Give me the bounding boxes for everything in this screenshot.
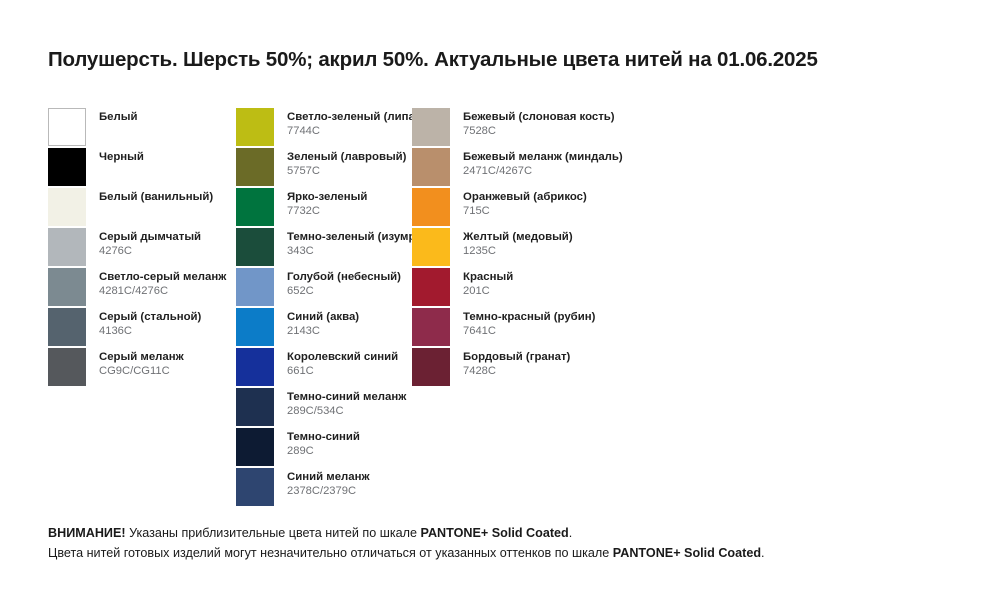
swatch-name: Темно-синий: [287, 431, 360, 444]
swatch-pantone-code: 2471C/4267C: [463, 165, 623, 178]
swatch-text: Черный: [99, 148, 144, 164]
swatch-text: Зеленый (лавровый)5757C: [287, 148, 406, 179]
swatch-text: Ярко-зеленый7732C: [287, 188, 367, 219]
swatch-pantone-code: CG9C/CG11C: [99, 365, 184, 378]
swatch-text: Белый (ванильный): [99, 188, 213, 204]
color-swatch: [412, 308, 450, 346]
color-swatch: [236, 308, 274, 346]
color-swatch: [412, 108, 450, 146]
swatch-pantone-code: 7528C: [463, 125, 615, 138]
swatch-name: Бежевый (слоновая кость): [463, 111, 615, 124]
pantone-brand-2: PANTONE+ Solid Coated: [613, 546, 761, 560]
swatch-text: Серый меланжCG9C/CG11C: [99, 348, 184, 379]
color-swatch: [412, 228, 450, 266]
swatch-name: Белый: [99, 111, 138, 124]
swatch-text: Темно-красный (рубин)7641C: [463, 308, 595, 339]
swatch-row: Зеленый (лавровый)5757C: [236, 148, 412, 188]
color-swatch: [412, 188, 450, 226]
swatch-row: Бежевый (слоновая кость)7528C: [412, 108, 712, 148]
swatch-text: Серый (стальной)4136C: [99, 308, 201, 339]
swatch-row: Светло-зеленый (липа)7744C: [236, 108, 412, 148]
page-title: Полушерсть. Шерсть 50%; акрил 50%. Актуа…: [48, 48, 818, 72]
swatch-text: Синий (аква)2143C: [287, 308, 359, 339]
swatch-row: Синий меланж2378C/2379C: [236, 468, 412, 508]
swatch-row: Светло-серый меланж4281C/4276C: [48, 268, 236, 308]
swatch-row: Темно-зеленый (изумруд)343C: [236, 228, 412, 268]
swatch-text: Серый дымчатый4276C: [99, 228, 201, 259]
swatch-row: Желтый (медовый)1235C: [412, 228, 712, 268]
footer-line-1-end: .: [569, 526, 573, 540]
swatch-name: Голубой (небесный): [287, 271, 401, 284]
swatch-name: Ярко-зеленый: [287, 191, 367, 204]
swatch-name: Светло-серый меланж: [99, 271, 226, 284]
swatch-row: Белый: [48, 108, 236, 148]
swatch-row: Оранжевый (абрикос)715C: [412, 188, 712, 228]
swatch-text: Голубой (небесный)652C: [287, 268, 401, 299]
color-swatch: [236, 468, 274, 506]
swatch-row: Черный: [48, 148, 236, 188]
swatch-column-warm: Бежевый (слоновая кость)7528CБежевый мел…: [412, 108, 712, 388]
swatch-row: Бордовый (гранат)7428C: [412, 348, 712, 388]
swatch-name: Белый (ванильный): [99, 191, 213, 204]
swatch-text: Бордовый (гранат)7428C: [463, 348, 570, 379]
swatch-row: Голубой (небесный)652C: [236, 268, 412, 308]
color-swatch: [48, 348, 86, 386]
swatch-pantone-code: 4276C: [99, 245, 201, 258]
swatch-row: Темно-синий289C: [236, 428, 412, 468]
swatch-pantone-code: 652C: [287, 285, 401, 298]
swatch-text: Желтый (медовый)1235C: [463, 228, 573, 259]
color-chart-page: Полушерсть. Шерсть 50%; акрил 50%. Актуа…: [0, 0, 1000, 609]
color-swatch: [236, 228, 274, 266]
swatch-name: Королевский синий: [287, 351, 398, 364]
color-swatch: [48, 108, 86, 146]
swatch-pantone-code: 715C: [463, 205, 587, 218]
swatch-row: Темно-синий меланж289C/534C: [236, 388, 412, 428]
swatch-name: Серый дымчатый: [99, 231, 201, 244]
swatch-name: Темно-зеленый (изумруд): [287, 231, 432, 244]
swatch-row: Красный201C: [412, 268, 712, 308]
swatch-row: Белый (ванильный): [48, 188, 236, 228]
swatch-row: Темно-красный (рубин)7641C: [412, 308, 712, 348]
swatch-pantone-code: 661C: [287, 365, 398, 378]
swatch-name: Бордовый (гранат): [463, 351, 570, 364]
swatch-name: Желтый (медовый): [463, 231, 573, 244]
swatch-pantone-code: 7641C: [463, 325, 595, 338]
color-swatch: [236, 148, 274, 186]
swatch-name: Синий (аква): [287, 311, 359, 324]
swatch-name: Серый (стальной): [99, 311, 201, 324]
color-swatch: [412, 268, 450, 306]
swatch-pantone-code: 5757C: [287, 165, 406, 178]
footer-attention-label: ВНИМАНИЕ!: [48, 526, 126, 540]
swatch-name: Темно-красный (рубин): [463, 311, 595, 324]
color-swatch: [412, 348, 450, 386]
footer-line-1-text: Указаны приблизительные цвета нитей по ш…: [126, 526, 421, 540]
swatch-text: Темно-синий меланж289C/534C: [287, 388, 406, 419]
swatch-pantone-code: 2378C/2379C: [287, 485, 370, 498]
swatch-row: Серый дымчатый4276C: [48, 228, 236, 268]
swatch-text: Светло-зеленый (липа)7744C: [287, 108, 419, 139]
swatch-text: Бежевый (слоновая кость)7528C: [463, 108, 615, 139]
color-swatch: [236, 428, 274, 466]
swatch-pantone-code: 7744C: [287, 125, 419, 138]
swatch-text: Светло-серый меланж4281C/4276C: [99, 268, 226, 299]
swatch-pantone-code: 7428C: [463, 365, 570, 378]
swatch-text: Белый: [99, 108, 138, 124]
swatch-name: Темно-синий меланж: [287, 391, 406, 404]
footer-line-2: Цвета нитей готовых изделий могут незнач…: [48, 543, 948, 563]
footer-disclaimer: ВНИМАНИЕ! Указаны приблизительные цвета …: [48, 523, 948, 563]
swatch-pantone-code: 7732C: [287, 205, 367, 218]
color-swatch: [236, 388, 274, 426]
swatch-pantone-code: 289C/534C: [287, 405, 406, 418]
swatch-name: Красный: [463, 271, 513, 284]
swatch-text: Темно-синий289C: [287, 428, 360, 459]
color-swatch: [48, 188, 86, 226]
swatch-pantone-code: 201C: [463, 285, 513, 298]
swatch-text: Бежевый меланж (миндаль)2471C/4267C: [463, 148, 623, 179]
swatch-column-greens-blues: Светло-зеленый (липа)7744CЗеленый (лавро…: [236, 108, 412, 508]
color-swatch: [48, 148, 86, 186]
swatch-row: Королевский синий661C: [236, 348, 412, 388]
footer-line-2-end: .: [761, 546, 765, 560]
swatch-text: Синий меланж2378C/2379C: [287, 468, 370, 499]
swatch-pantone-code: 4281C/4276C: [99, 285, 226, 298]
swatch-row: Синий (аква)2143C: [236, 308, 412, 348]
swatch-text: Красный201C: [463, 268, 513, 299]
swatch-name: Черный: [99, 151, 144, 164]
footer-line-1: ВНИМАНИЕ! Указаны приблизительные цвета …: [48, 523, 948, 543]
color-swatch: [236, 108, 274, 146]
swatch-name: Зеленый (лавровый): [287, 151, 406, 164]
swatch-name: Светло-зеленый (липа): [287, 111, 419, 124]
swatch-pantone-code: 4136C: [99, 325, 201, 338]
swatch-name: Серый меланж: [99, 351, 184, 364]
color-swatch: [48, 228, 86, 266]
swatch-columns: БелыйЧерныйБелый (ванильный)Серый дымчат…: [48, 108, 958, 508]
swatch-name: Бежевый меланж (миндаль): [463, 151, 623, 164]
swatch-pantone-code: 343C: [287, 245, 432, 258]
swatch-row: Серый (стальной)4136C: [48, 308, 236, 348]
swatch-name: Оранжевый (абрикос): [463, 191, 587, 204]
color-swatch: [236, 268, 274, 306]
swatch-name: Синий меланж: [287, 471, 370, 484]
color-swatch: [236, 348, 274, 386]
color-swatch: [48, 268, 86, 306]
swatch-text: Оранжевый (абрикос)715C: [463, 188, 587, 219]
swatch-pantone-code: 2143C: [287, 325, 359, 338]
swatch-column-neutrals: БелыйЧерныйБелый (ванильный)Серый дымчат…: [48, 108, 236, 388]
swatch-row: Серый меланжCG9C/CG11C: [48, 348, 236, 388]
color-swatch: [236, 188, 274, 226]
swatch-pantone-code: 289C: [287, 445, 360, 458]
swatch-row: Бежевый меланж (миндаль)2471C/4267C: [412, 148, 712, 188]
swatch-pantone-code: 1235C: [463, 245, 573, 258]
swatch-row: Ярко-зеленый7732C: [236, 188, 412, 228]
swatch-text: Темно-зеленый (изумруд)343C: [287, 228, 432, 259]
swatch-text: Королевский синий661C: [287, 348, 398, 379]
color-swatch: [48, 308, 86, 346]
color-swatch: [412, 148, 450, 186]
footer-line-2-text: Цвета нитей готовых изделий могут незнач…: [48, 546, 613, 560]
pantone-brand-1: PANTONE+ Solid Coated: [420, 526, 568, 540]
